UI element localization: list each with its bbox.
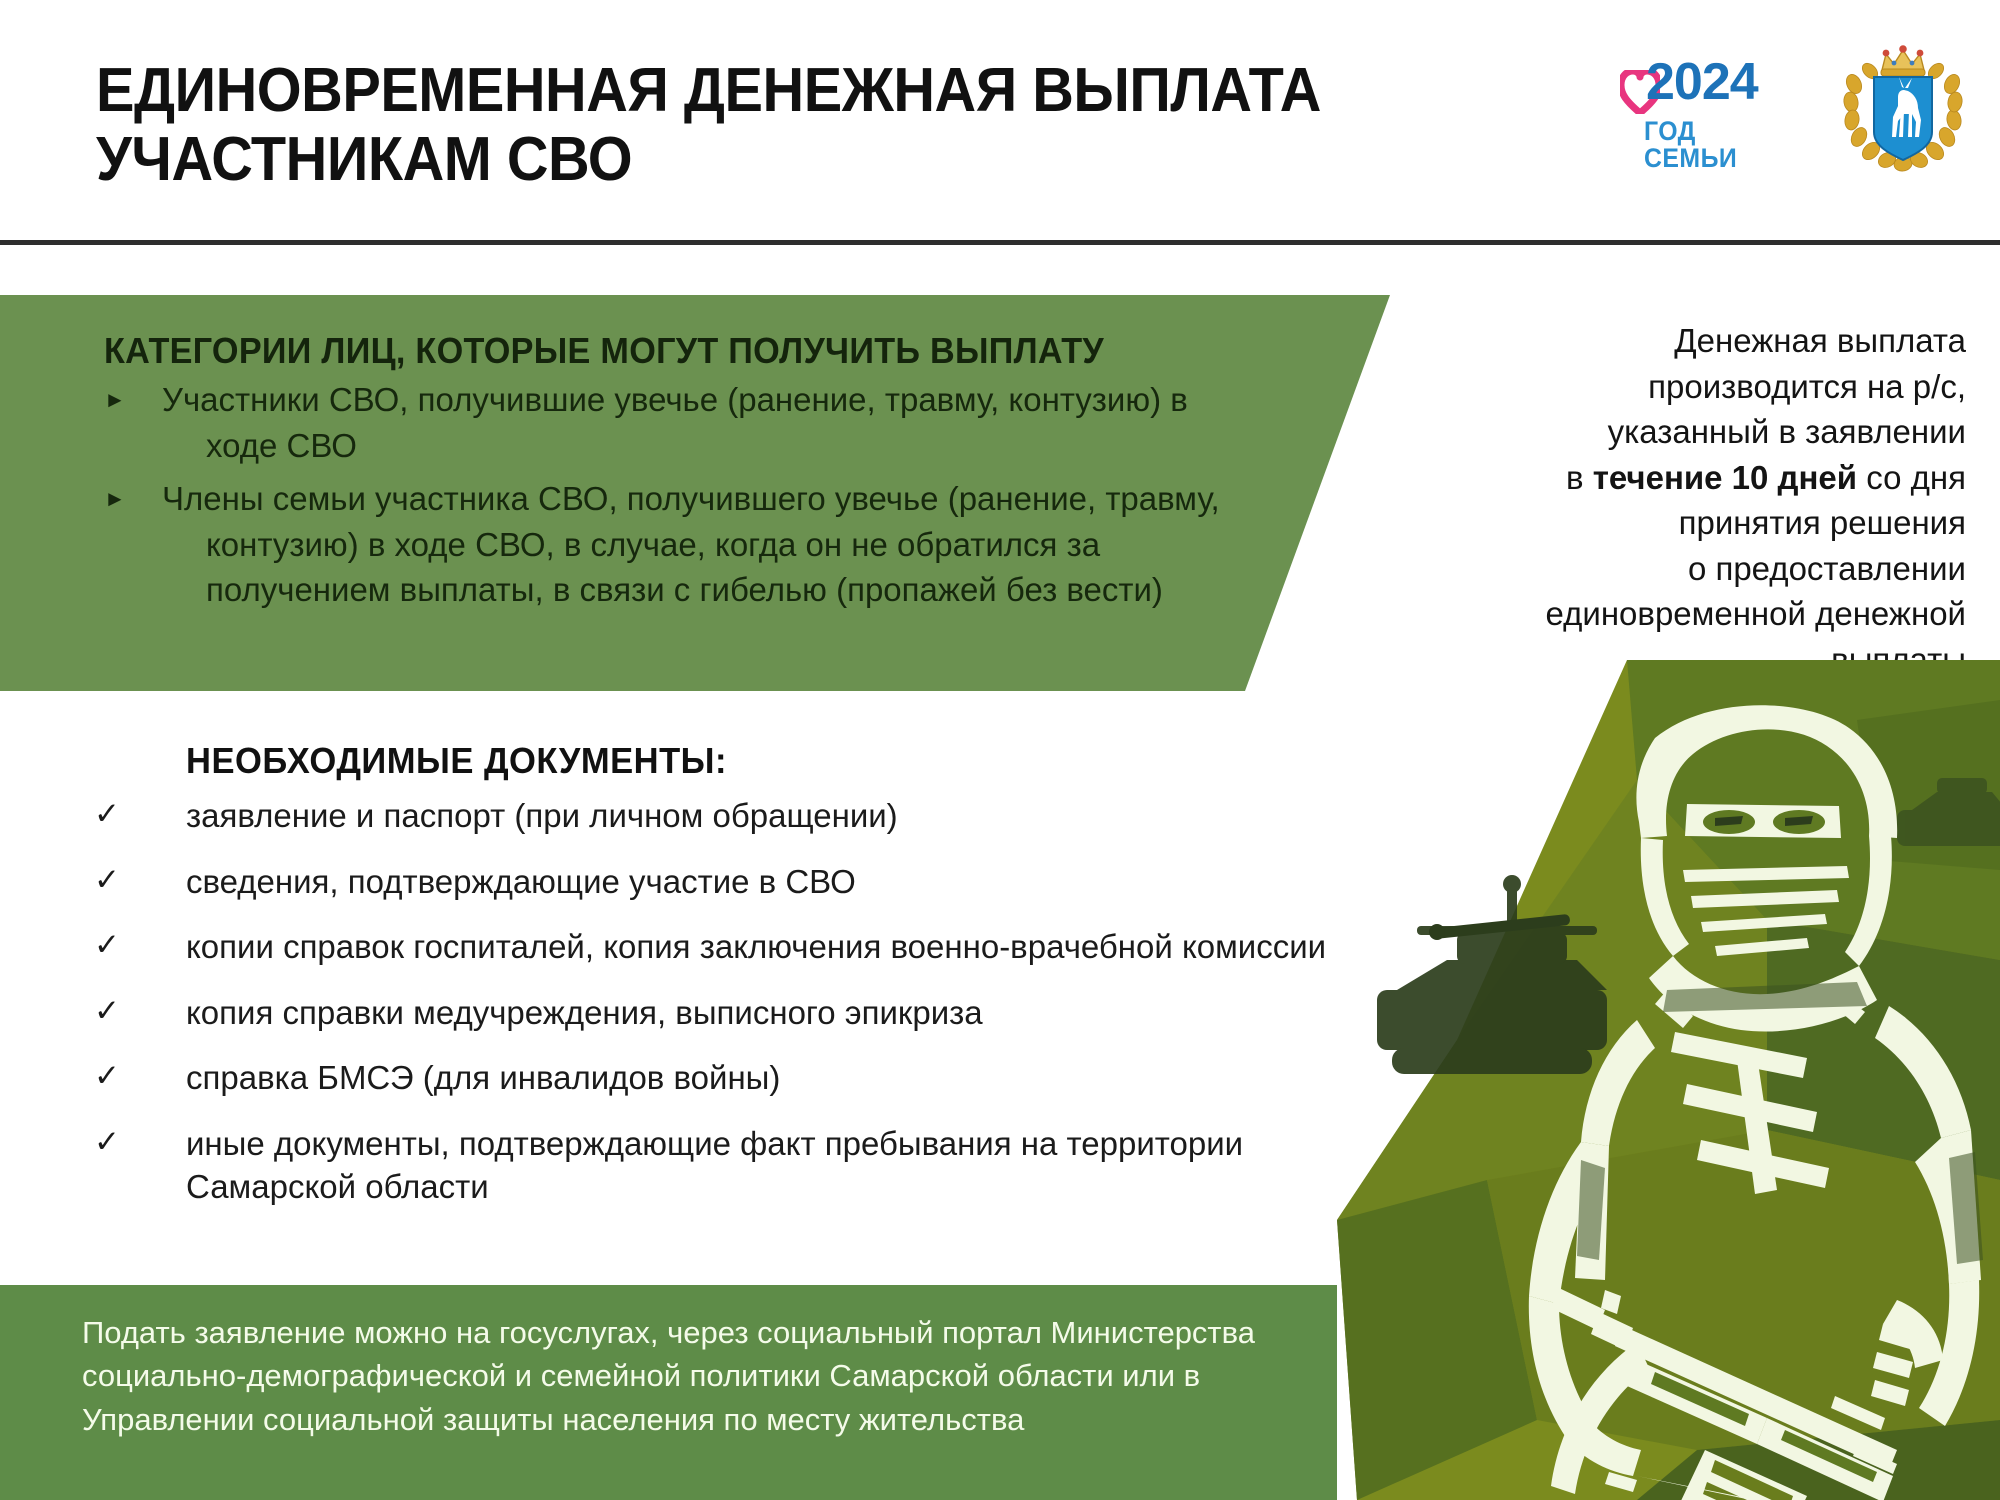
- check-icon: ✓: [88, 925, 186, 966]
- how-to-apply-banner: Подать заявление можно на госуслугах, че…: [0, 1285, 1337, 1500]
- page-title: ЕДИНОВРЕМЕННАЯ ДЕНЕЖНАЯ ВЫПЛАТА УЧАСТНИК…: [96, 56, 1454, 195]
- note-line: указанный в заявлении: [1608, 413, 1966, 450]
- triangle-bullet-icon: ►: [104, 377, 162, 411]
- note-line: Денежная выплата: [1674, 322, 1966, 359]
- list-item: ✓ иные документы, подтверждающие факт пр…: [88, 1122, 1338, 1209]
- header-divider: [0, 240, 2000, 245]
- document-text: копия справки медучреждения, выписного э…: [186, 991, 1338, 1035]
- list-item: ✓ копия справки медучреждения, выписного…: [88, 991, 1338, 1035]
- check-icon: ✓: [88, 991, 186, 1032]
- page-header: ЕДИНОВРЕМЕННАЯ ДЕНЕЖНАЯ ВЫПЛАТА УЧАСТНИК…: [0, 0, 2000, 246]
- documents-list: ✓ заявление и паспорт (при личном обраще…: [88, 794, 1338, 1231]
- document-text: иные документы, подтверждающие факт преб…: [186, 1122, 1338, 1209]
- year-of-family-2024-logo: 2024 ГОД СЕМЬИ: [1618, 48, 1786, 168]
- document-text: копии справок госпиталей, копия заключен…: [186, 925, 1338, 969]
- list-item: ✓ заявление и паспорт (при личном обраще…: [88, 794, 1338, 838]
- list-item: ► Участники СВО, получившие увечье (ране…: [104, 377, 1224, 468]
- category-text: Участники СВО, получившие увечье (ранени…: [162, 377, 1224, 468]
- year-subtitle: ГОД СЕМЬИ: [1644, 118, 1775, 172]
- samara-coat-of-arms-icon: [1842, 44, 1964, 172]
- categories-title: КАТЕГОРИИ ЛИЦ, КОТОРЫЕ МОГУТ ПОЛУЧИТЬ ВЫ…: [104, 330, 1104, 372]
- note-line-prefix: в: [1566, 459, 1593, 496]
- check-icon: ✓: [88, 1056, 186, 1097]
- list-item: ✓ сведения, подтверждающие участие в СВО: [88, 860, 1338, 904]
- note-line: о предоставлении: [1688, 550, 1966, 587]
- documents-title: НЕОБХОДИМЫЕ ДОКУМЕНТЫ:: [186, 740, 727, 782]
- categories-panel: КАТЕГОРИИ ЛИЦ, КОТОРЫЕ МОГУТ ПОЛУЧИТЬ ВЫ…: [0, 295, 1390, 691]
- note-line: единовременной денежной: [1546, 595, 1966, 632]
- triangle-bullet-icon: ►: [104, 476, 162, 510]
- soldier-illustration: [1337, 660, 2000, 1500]
- list-item: ► Члены семьи участника СВО, получившего…: [104, 476, 1224, 613]
- check-icon: ✓: [88, 860, 186, 901]
- year-number: 2024: [1646, 56, 1758, 108]
- check-icon: ✓: [88, 1122, 186, 1163]
- check-icon: ✓: [88, 794, 186, 835]
- how-to-apply-text: Подать заявление можно на госуслугах, че…: [82, 1311, 1292, 1441]
- logo-group: 2024 ГОД СЕМЬИ: [1618, 44, 1964, 172]
- list-item: ✓ копии справок госпиталей, копия заключ…: [88, 925, 1338, 969]
- soldier-with-rifle-stencil-icon: [1337, 660, 2000, 1500]
- document-text: справка БМСЭ (для инвалидов войны): [186, 1056, 1338, 1100]
- categories-list: ► Участники СВО, получившие увечье (ране…: [104, 377, 1224, 621]
- crown-icon: [1881, 45, 1925, 76]
- document-text: сведения, подтверждающие участие в СВО: [186, 860, 1338, 904]
- list-item: ✓ справка БМСЭ (для инвалидов войны): [88, 1056, 1338, 1100]
- note-line: производится на р/с,: [1648, 368, 1966, 405]
- payment-terms-note: Денежная выплата производится на р/с, ук…: [1406, 318, 1966, 682]
- note-line-suffix: со дня: [1857, 459, 1966, 496]
- note-highlight-term: течение 10 дней: [1593, 459, 1857, 496]
- note-line: принятия решения: [1679, 504, 1966, 541]
- document-text: заявление и паспорт (при личном обращени…: [186, 794, 1338, 838]
- category-text: Члены семьи участника СВО, получившего у…: [162, 476, 1224, 613]
